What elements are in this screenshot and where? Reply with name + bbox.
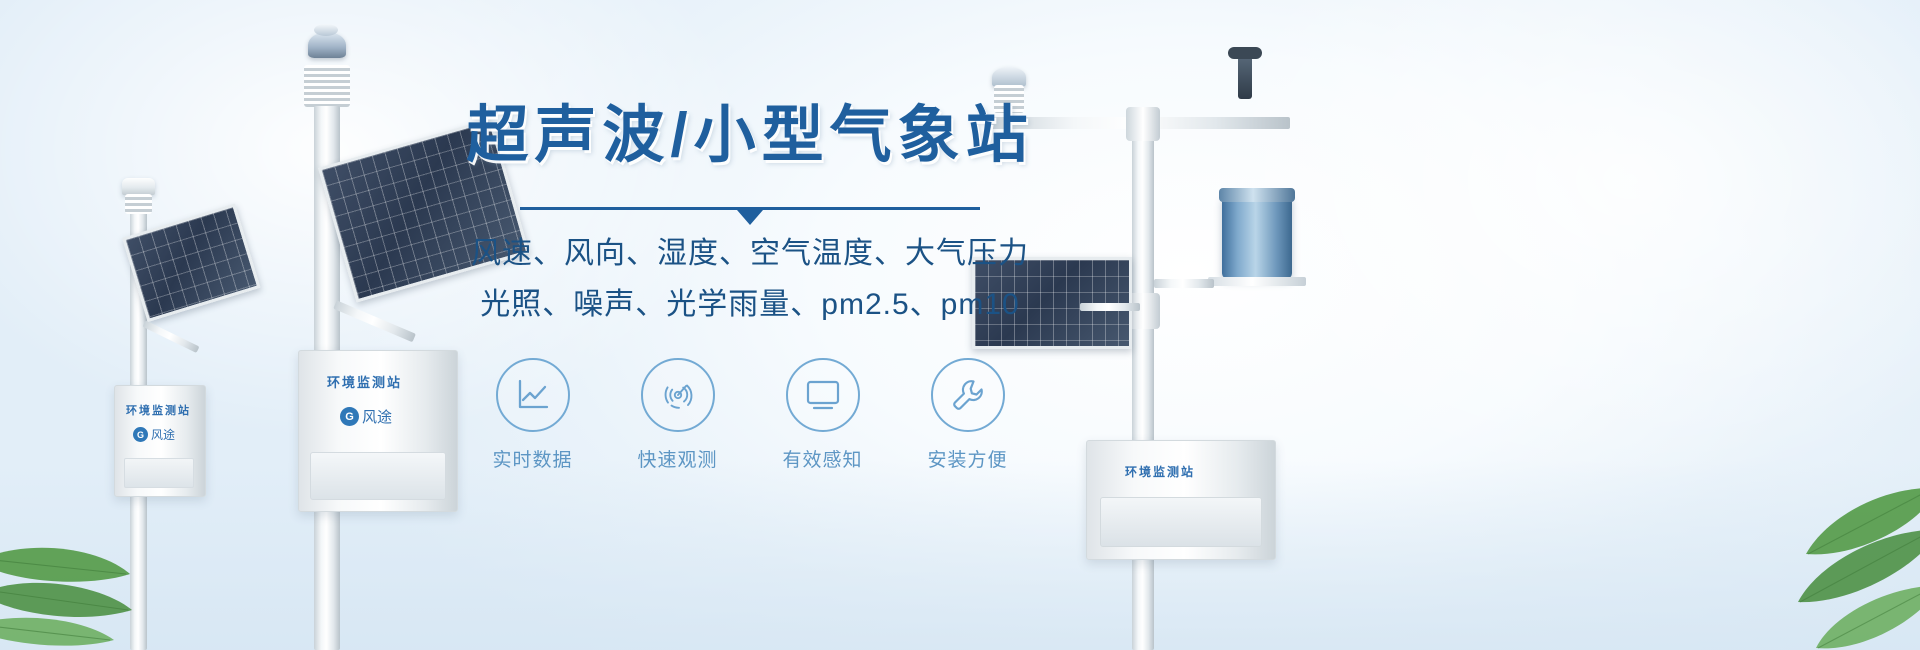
radar-observation-icon bbox=[658, 375, 698, 415]
wrench-tool-icon bbox=[949, 376, 987, 414]
radiation-shield-fins-mid bbox=[304, 65, 350, 107]
subtitle-line-2: 光照、噪声、光学雨量、pm2.5、pm10 bbox=[440, 282, 1060, 329]
cabinet-brand-mid: G 风途 bbox=[340, 406, 392, 427]
weather-station-left: 环境监测站 G 风途 bbox=[100, 170, 275, 650]
feature-item-realtime-data[interactable]: 实时数据 bbox=[479, 358, 587, 472]
cabinet-lower-panel-right bbox=[1100, 497, 1262, 547]
brand-logo-icon: G bbox=[133, 427, 148, 442]
anemometer-head bbox=[1228, 47, 1262, 59]
cabinet-lower-panel bbox=[124, 458, 194, 488]
banner-content: 超声波/小型气象站 风速、风向、湿度、空气温度、大气压力 光照、噪声、光学雨量、… bbox=[440, 100, 1060, 472]
monitor-display-icon bbox=[803, 377, 843, 413]
feature-icon-circle bbox=[786, 358, 860, 432]
feature-label: 实时数据 bbox=[479, 445, 587, 472]
cabinet-label-right: 环境监测站 bbox=[1125, 463, 1195, 480]
feature-list: 实时数据 快 bbox=[440, 358, 1060, 472]
feature-item-easy-install[interactable]: 安装方便 bbox=[914, 358, 1022, 472]
title-divider bbox=[520, 201, 980, 227]
line-chart-icon bbox=[514, 376, 552, 414]
brand-name: 风途 bbox=[151, 426, 175, 443]
feature-icon-circle bbox=[496, 358, 570, 432]
cabinet-brand-left: G 风途 bbox=[133, 426, 175, 443]
cabinet-lower-panel-mid bbox=[310, 452, 446, 500]
feature-label: 有效感知 bbox=[769, 445, 877, 472]
rain-gauge-arm bbox=[1154, 279, 1214, 288]
anemometer-sensor bbox=[1238, 53, 1252, 99]
ultrasonic-sensor-right-arm bbox=[992, 67, 1026, 87]
decorative-leaves-right bbox=[1666, 410, 1920, 650]
mast-collar-top bbox=[1126, 107, 1160, 141]
brand-name-mid: 风途 bbox=[362, 406, 392, 427]
feature-icon-circle bbox=[931, 358, 1005, 432]
ultrasonic-sensor-head bbox=[122, 178, 155, 195]
rain-gauge-shelf bbox=[1208, 277, 1306, 286]
cabinet-label-mid: 环境监测站 bbox=[327, 372, 402, 391]
cabinet-label-left: 环境监测站 bbox=[126, 402, 191, 418]
brand-logo-icon-mid: G bbox=[340, 407, 359, 426]
feature-icon-circle bbox=[641, 358, 715, 432]
feature-label: 安装方便 bbox=[914, 445, 1022, 472]
page-title: 超声波/小型气象站 bbox=[440, 100, 1060, 171]
feature-item-fast-observation[interactable]: 快速观测 bbox=[624, 358, 732, 472]
feature-label: 快速观测 bbox=[624, 445, 732, 472]
product-banner: 环境监测站 G 风途 环境监测站 G 风途 bbox=[0, 0, 1920, 650]
subtitle-line-1: 风速、风向、湿度、空气温度、大气压力 bbox=[440, 231, 1060, 278]
panel-support-arm bbox=[142, 320, 199, 353]
dome-cap bbox=[314, 24, 338, 36]
optical-rain-gauge bbox=[1222, 195, 1292, 279]
feature-item-effective-sensing[interactable]: 有效感知 bbox=[769, 358, 877, 472]
radiation-shield-fins bbox=[125, 194, 152, 214]
mast-pole-right bbox=[1132, 115, 1154, 650]
solar-panel-arm-right bbox=[1080, 303, 1140, 311]
rain-gauge-rim bbox=[1219, 188, 1295, 202]
panel-support-arm-mid bbox=[333, 300, 416, 342]
divider-triangle-icon bbox=[737, 210, 763, 225]
